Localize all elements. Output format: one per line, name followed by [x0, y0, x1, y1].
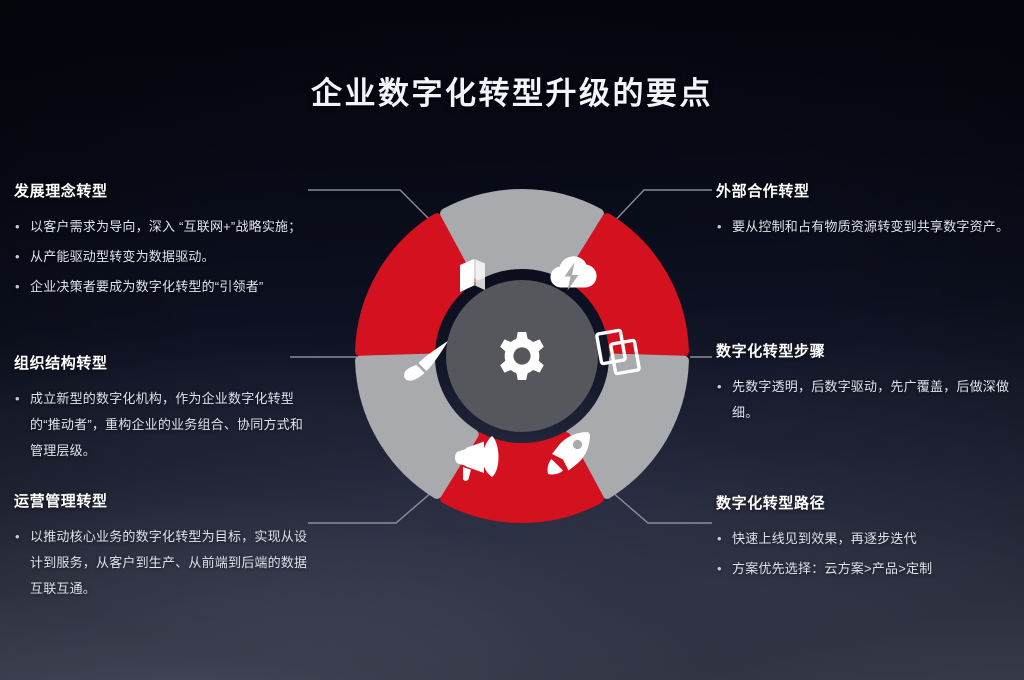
text-block-operation-management: 运营管理转型 以推动核心业务的数字化转型为目标，实现从设计到服务，从客户到生产、…	[14, 490, 316, 606]
bullet-list-transformation-path: 快速上线见到效果，再逐步迭代 方案优先选择：云方案>产品>定制	[716, 526, 1018, 582]
page-title: 企业数字化转型升级的要点	[0, 68, 1024, 113]
list-item: 企业决策者要成为数字化转型的“引领者”	[14, 274, 316, 300]
heading-organization-structure: 组织结构转型	[14, 352, 316, 373]
list-item: 方案优先选择：云方案>产品>定制	[716, 556, 1018, 582]
text-block-transformation-steps: 数字化转型步骤 先数字透明，后数字驱动，先广覆盖，后做深做细。	[716, 340, 1018, 430]
segmented-wheel-diagram	[352, 186, 692, 526]
text-block-development-concept: 发展理念转型 以客户需求为导向，深入 “互联网+”战略实施； 从产能驱动型转变为…	[14, 180, 316, 304]
list-item: 要从控制和占有物质资源转变到共享数字资产。	[716, 214, 1018, 240]
bullet-list-transformation-steps: 先数字透明，后数字驱动，先广覆盖，后做深做细。	[716, 374, 1018, 426]
list-item: 以推动核心业务的数字化转型为目标，实现从设计到服务，从客户到生产、从前端到后端的…	[14, 524, 316, 602]
list-item: 以客户需求为导向，深入 “互联网+”战略实施；	[14, 214, 316, 240]
bullet-list-organization-structure: 成立新型的数字化机构，作为企业数字化转型的“推动者”，重构企业的业务组合、协同方…	[14, 386, 316, 464]
book-icon	[460, 259, 485, 292]
heading-operation-management: 运营管理转型	[14, 490, 316, 511]
heading-external-cooperation: 外部合作转型	[716, 180, 1018, 201]
list-item: 先数字透明，后数字驱动，先广覆盖，后做深做细。	[716, 374, 1018, 426]
bullet-list-development-concept: 以客户需求为导向，深入 “互联网+”战略实施； 从产能驱动型转变为数据驱动。 企…	[14, 214, 316, 300]
text-block-external-cooperation: 外部合作转型 要从控制和占有物质资源转变到共享数字资产。	[716, 180, 1018, 244]
text-block-organization-structure: 组织结构转型 成立新型的数字化机构，作为企业数字化转型的“推动者”，重构企业的业…	[14, 352, 316, 468]
heading-transformation-steps: 数字化转型步骤	[716, 340, 1018, 361]
heading-development-concept: 发展理念转型	[14, 180, 316, 201]
list-item: 从产能驱动型转变为数据驱动。	[14, 244, 316, 270]
bullet-list-external-cooperation: 要从控制和占有物质资源转变到共享数字资产。	[716, 214, 1018, 240]
text-block-transformation-path: 数字化转型路径 快速上线见到效果，再逐步迭代 方案优先选择：云方案>产品>定制	[716, 492, 1018, 586]
bullet-list-operation-management: 以推动核心业务的数字化转型为目标，实现从设计到服务，从客户到生产、从前端到后端的…	[14, 524, 316, 602]
slide-canvas: 企业数字化转型升级的要点 发展理念转型 以客户需求为导向，深入 “互联网+”战略…	[0, 0, 1024, 680]
list-item: 快速上线见到效果，再逐步迭代	[716, 526, 1018, 552]
heading-transformation-path: 数字化转型路径	[716, 492, 1018, 513]
list-item: 成立新型的数字化机构，作为企业数字化转型的“推动者”，重构企业的业务组合、协同方…	[14, 386, 316, 464]
